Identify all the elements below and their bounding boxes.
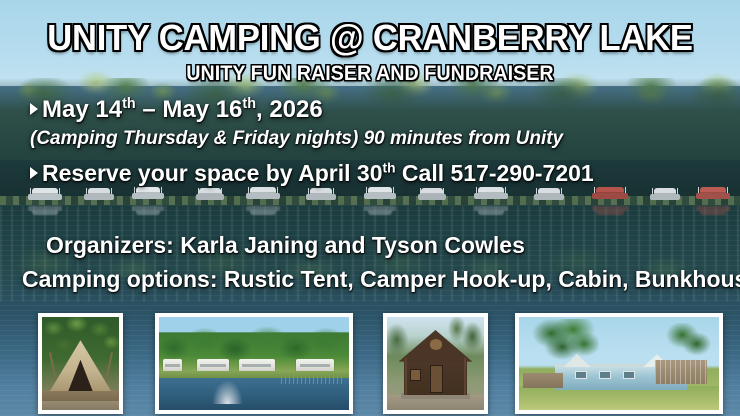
cabin-photo-door (430, 365, 444, 393)
date-year: , 2026 (256, 96, 323, 123)
pontoon-boat (306, 188, 336, 200)
pontoon-boat-red (696, 187, 730, 199)
photo-rustic-tent-image (42, 317, 119, 410)
bunkhouse-photo-deck-right (655, 360, 707, 384)
bunkhouse-photo-window (599, 371, 611, 379)
boat-reflection-red (592, 206, 628, 215)
date-end: May 16 (162, 96, 242, 123)
pontoon-boat (418, 188, 446, 200)
boat-reflection (28, 206, 62, 215)
poster-subtitle: UNITY FUN RAISER AND FUNDRAISER (22, 62, 718, 86)
bullet-triangle-icon (30, 103, 38, 115)
cabin-photo-porch-post (405, 358, 407, 395)
bunkhouse-photo-shade-tree (531, 319, 599, 367)
cabin-photo-porch-post (464, 358, 466, 395)
bunkhouse-photo-window (575, 371, 587, 379)
event-dates-line: May 14th – May 16th, 2026 (30, 96, 323, 124)
pontoon-boat (132, 187, 164, 199)
photo-rustic-tent (38, 313, 123, 414)
boat-reflection (132, 206, 164, 215)
photo-bunkhouse-image (519, 317, 719, 410)
reserve-phone-text: Call 517-290-7201 (396, 160, 594, 186)
photo-cabin-image (387, 317, 484, 410)
cabin-photo-window (410, 369, 421, 381)
bullet-triangle-icon (30, 167, 38, 179)
photo-cabin (383, 313, 488, 414)
poster-title: UNITY CAMPING @ CRANBERRY LAKE (15, 18, 725, 58)
pontoon-boat-red (592, 187, 628, 199)
bunkhouse-photo-tree-right (663, 323, 711, 364)
reservation-line: Reserve your space by April 30th Call 51… (30, 160, 594, 187)
date-end-ordinal: th (242, 96, 256, 112)
bunkhouse-photo-deck-left (523, 373, 563, 388)
photo-camper-hookup (155, 313, 353, 414)
pontoon-boat (28, 188, 62, 200)
pontoon-boat (84, 188, 114, 200)
date-dash: – (136, 96, 163, 123)
pontoon-boat (650, 188, 680, 200)
date-start-ordinal: th (122, 96, 136, 112)
rv-photo-reeds (281, 373, 346, 384)
boat-reflection (474, 206, 508, 215)
camping-nights-note: (Camping Thursday & Friday nights) 90 mi… (30, 128, 563, 150)
boat-reflection (246, 206, 280, 215)
photo-bunkhouse (515, 313, 723, 414)
reserve-prefix: Reserve your space by April 30 (42, 160, 383, 186)
date-start: May 14 (42, 96, 122, 123)
pontoon-boat (364, 187, 396, 199)
pontoon-boat (196, 188, 224, 200)
rv-photo-fountain (212, 380, 242, 404)
pontoon-boat (534, 188, 564, 200)
photo-camper-hookup-image (159, 317, 349, 410)
pontoon-boat (474, 187, 508, 199)
camping-options-line: Camping options: Rustic Tent, Camper Hoo… (22, 266, 740, 293)
cabin-photo-gable-window (430, 339, 443, 349)
boat-reflection-red (696, 206, 730, 215)
reserve-ordinal: th (383, 160, 396, 175)
bunkhouse-photo-window (623, 371, 635, 379)
boat-reflection (364, 206, 396, 215)
organizers-line: Organizers: Karla Janing and Tyson Cowle… (46, 232, 525, 259)
camping-flyer-poster: UNITY CAMPING @ CRANBERRY LAKE UNITY FUN… (0, 0, 740, 416)
pontoon-boat (246, 187, 280, 199)
